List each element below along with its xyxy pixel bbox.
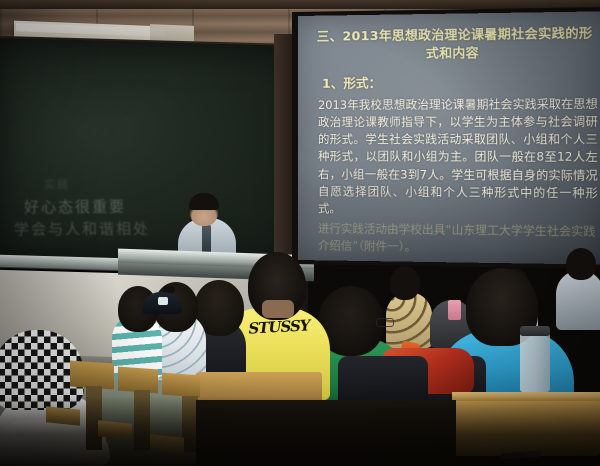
seat-armrest-b xyxy=(98,420,132,440)
presentation-slide: 三、2013年思想政治理论课暑期社会实践的形式和内容 1、形式： 2013年我校… xyxy=(298,11,600,265)
wooden-seat-left-c xyxy=(162,373,200,398)
lecture-hall-photo: 实践 好心态很重要 学会与人和谐相处 三、2013年思想政治理论课暑期社会实践的… xyxy=(0,0,600,466)
seat-edge-right xyxy=(452,392,600,401)
lecturer-tie xyxy=(202,224,211,254)
chalk-writing-line-2: 学会与人和谐相处 xyxy=(14,218,151,240)
projection-screen: 三、2013年思想政治理论课暑期社会实践的形式和内容 1、形式： 2013年我校… xyxy=(298,11,600,265)
cap-logo xyxy=(158,297,168,305)
chalk-writing-line-1: 好心态很重要 xyxy=(24,196,127,218)
water-bottle-on-desk xyxy=(520,332,550,392)
slide-section-heading: 1、形式： xyxy=(310,70,600,91)
lecturer-hair xyxy=(189,193,219,210)
student-leopard-print-head xyxy=(390,266,420,300)
seat-support-a xyxy=(86,386,102,450)
wooden-seat-back-right xyxy=(452,398,600,456)
eyeglasses xyxy=(376,318,394,327)
slide-body-tail-text: 进行实践活动由学校出具“山东理工大学学生社会实践介绍信”（附件一）。 xyxy=(310,220,600,258)
seat-support-b xyxy=(134,390,150,450)
chalk-writing-line-3: 实践 xyxy=(44,176,70,192)
seat-armrest-a xyxy=(46,406,80,426)
pink-phone xyxy=(448,300,461,320)
seat-armrest-c xyxy=(150,434,184,454)
slide-title: 三、2013年思想政治理论课暑期社会实践的形式和内容 xyxy=(310,24,600,64)
slide-body-text: 2013年我校思想政治理论课暑期社会实践采取在思想政治理论课教师指导下，以学生为… xyxy=(310,95,600,221)
student-yellow-stussy-neck xyxy=(262,300,294,318)
student-far-right-head xyxy=(566,248,596,280)
water-bottle-cap xyxy=(520,326,550,336)
desk-shadow-foreground xyxy=(196,400,456,466)
